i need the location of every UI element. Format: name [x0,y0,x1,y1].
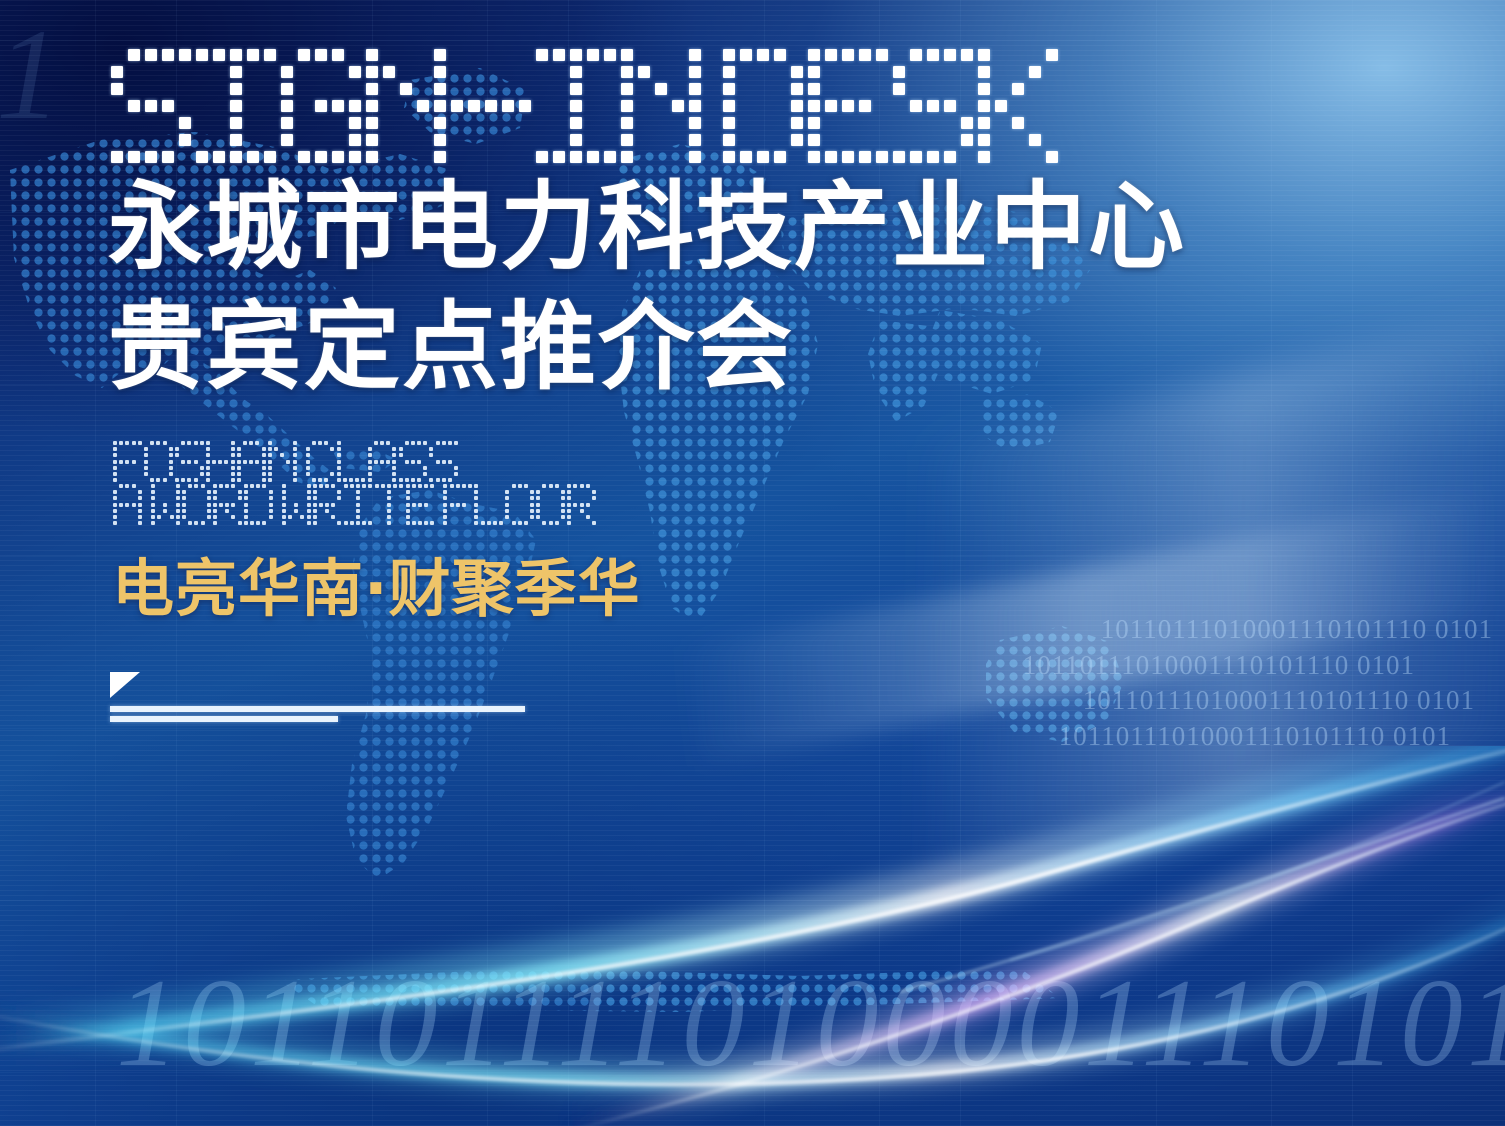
led-dot [312,447,316,451]
led-dot [910,151,922,163]
led-dot [499,503,503,507]
led-dot [978,117,990,129]
led-dot [170,496,174,500]
led-dot [368,441,372,445]
led-dot [893,66,905,78]
led-dot [200,441,204,445]
led-dot [910,49,922,61]
led-dot [179,151,191,163]
led-dot [151,521,155,525]
led-dot [256,496,260,500]
led-dot [468,83,480,95]
led-glyph [448,46,533,165]
led-dot [791,151,803,163]
led-dot [201,484,205,488]
led-dot [549,515,553,519]
led-dot [113,441,117,445]
led-dot [213,100,225,112]
led-dot [580,521,584,525]
led-dot [181,453,185,457]
led-dot [274,453,278,457]
led-dot [442,460,446,464]
led-dot [262,460,266,464]
led-dot [288,496,292,500]
led-dot [300,484,304,488]
led-dot [344,484,348,488]
led-dot [448,460,452,464]
led-dot [150,441,154,445]
led-dot [343,466,347,470]
led-dot [111,117,123,129]
led-dot [740,134,752,146]
led-dot [182,509,186,513]
led-dot [944,49,956,61]
led-dot [337,509,341,513]
led-dot [961,117,973,129]
led-dot [231,453,235,457]
led-dot [487,490,491,494]
led-dot [456,484,460,488]
led-dot [144,472,148,476]
led-dot [176,490,180,494]
led-dot [281,134,293,146]
led-dot [587,83,599,95]
decorative-rule-short [110,716,338,722]
led-dot [604,117,616,129]
led-glyph [336,440,367,483]
led-dot [231,503,235,507]
led-dot [381,484,385,488]
led-dot [224,447,228,451]
led-dot [264,117,276,129]
led-dot [825,151,837,163]
led-glyph [174,440,205,483]
led-dot [162,134,174,146]
led-dot [337,496,341,500]
led-dot [344,521,348,525]
led-dot [859,117,871,129]
led-dot [512,509,516,513]
led-dot [468,490,472,494]
led-dot [456,490,460,494]
led-dot [978,49,990,61]
led-dot [451,66,463,78]
led-dot [355,447,359,451]
led-dot [405,460,409,464]
led-dot [502,117,514,129]
led-dot [318,472,322,476]
led-dot [176,509,180,513]
led-dot [247,83,259,95]
led-dot [113,478,117,482]
led-dot [231,484,235,488]
led-dot [368,472,372,476]
led-dot [424,496,428,500]
led-dot [349,453,353,457]
led-dot [349,117,361,129]
led-dot [418,484,422,488]
led-dot [150,478,154,482]
led-dot [524,503,528,507]
led-dot [119,466,123,470]
led-dot [282,509,286,513]
led-dot [125,472,129,476]
led-dot [502,83,514,95]
led-dot [448,453,452,457]
led-dot [573,509,577,513]
led-dot [330,460,334,464]
led-dot [493,515,497,519]
led-dot [417,466,421,470]
led-dot [518,503,522,507]
led-dot [315,100,327,112]
led-dot [418,490,422,494]
led-dot [387,484,391,488]
led-dot [269,484,273,488]
led-dot [237,466,241,470]
led-dot [294,490,298,494]
led-glyph [805,46,890,165]
led-dot [519,83,531,95]
led-dot [368,490,372,494]
led-dot [162,83,174,95]
led-dot [361,466,365,470]
led-dot [313,509,317,513]
led-dot [300,490,304,494]
led-dot [138,484,142,488]
led-dot [169,478,173,482]
led-glyph [243,483,274,526]
led-dot [151,496,155,500]
led-dot [995,117,1007,129]
led-dot [456,496,460,500]
led-dot [876,49,888,61]
led-dot [519,134,531,146]
led-dot [337,460,341,464]
led-dot [119,515,123,519]
led-dot [542,503,546,507]
led-dot [774,100,786,112]
led-dot [406,484,410,488]
led-dot [555,521,559,525]
led-dot [113,447,117,451]
led-dot [621,66,633,78]
led-dot [399,441,403,445]
led-dot [454,478,458,482]
led-dot [366,83,378,95]
led-dot [502,66,514,78]
led-dot [313,503,317,507]
led-dot [443,515,447,519]
led-dot [132,441,136,445]
led-dot [944,66,956,78]
led-dot [274,478,278,482]
english-subtitle-line-1 [112,440,459,483]
led-dot [306,478,310,482]
led-dot [194,478,198,482]
led-dot [399,503,403,507]
led-dot [757,117,769,129]
led-dot [519,49,531,61]
led-dot [282,521,286,525]
led-dot [368,515,372,519]
led-dot [774,117,786,129]
led-dot [307,484,311,488]
led-dot [423,472,427,476]
led-dot [268,472,272,476]
led-dot [434,117,446,129]
gold-tagline: 电亮华南·财聚季华 [112,538,641,628]
led-dot [119,447,123,451]
led-dot [553,100,565,112]
led-dot [757,151,769,163]
led-dot [243,460,247,464]
led-dot [462,515,466,519]
led-dot [424,521,428,525]
led-dot [518,484,522,488]
led-dot [386,472,390,476]
led-dot [481,496,485,500]
led-dot [231,441,235,445]
led-dot [324,466,328,470]
led-dot [842,66,854,78]
led-dot [604,83,616,95]
led-dot [243,453,247,457]
led-dot [561,484,565,488]
led-dot [448,472,452,476]
led-glyph [281,483,312,526]
led-dot [187,441,191,445]
led-dot [294,496,298,500]
led-dot [324,478,328,482]
led-dot [387,503,391,507]
led-dot [132,496,136,500]
led-dot [791,83,803,95]
led-dot [262,521,266,525]
led-dot [411,441,415,445]
led-dot [188,521,192,525]
led-dot [553,83,565,95]
led-dot [499,496,503,500]
led-dot [621,49,633,61]
led-dot [268,453,272,457]
led-dot [893,49,905,61]
led-dot [324,447,328,451]
led-dot [1012,151,1024,163]
led-dot [280,447,284,451]
led-dot [264,66,276,78]
led-dot [162,117,174,129]
led-dot [740,49,752,61]
led-dot [876,117,888,129]
led-dot [910,117,922,129]
led-dot [436,441,440,445]
led-dot [145,83,157,95]
led-dot [282,484,286,488]
binary-text-block: 10110111010001110101110 0101 10110111010… [933,612,1493,755]
led-glyph [150,483,181,526]
led-dot [570,117,582,129]
triangle-flag-icon [110,672,140,698]
led-dot [128,83,140,95]
led-dot [443,490,447,494]
led-dot [313,484,317,488]
led-dot [238,521,242,525]
led-dot [586,515,590,519]
led-dot [448,466,452,470]
led-dot [454,441,458,445]
led-dot [286,453,290,457]
led-dot [530,496,534,500]
led-dot [592,490,596,494]
led-dot [1012,66,1024,78]
led-dot [487,521,491,525]
led-dot [286,441,290,445]
led-dot [436,453,440,457]
led-dot [423,453,427,457]
led-dot [337,472,341,476]
led-dot [502,151,514,163]
led-dot [570,100,582,112]
led-dot [567,509,571,513]
led-dot [474,521,478,525]
led-dot [436,472,440,476]
led-dot [138,441,142,445]
led-dot [119,460,123,464]
led-dot [249,478,253,482]
led-dot [331,484,335,488]
led-dot [156,472,160,476]
led-dot [337,453,341,457]
led-dot [231,515,235,519]
led-dot [876,66,888,78]
led-dot [169,447,173,451]
led-dot [298,134,310,146]
led-dot [132,460,136,464]
led-dot [213,515,217,519]
led-dot [264,83,276,95]
led-dot [132,466,136,470]
led-dot [350,490,354,494]
led-dot [450,515,454,519]
led-dot [262,453,266,457]
led-dot [318,478,322,482]
led-dot [375,521,379,525]
led-dot [995,66,1007,78]
led-dot [418,509,422,513]
led-dot [319,503,323,507]
led-dot [113,484,117,488]
led-dot [181,447,185,451]
led-dot [417,447,421,451]
led-dot [138,453,142,457]
led-glyph [112,483,143,526]
led-dot [213,134,225,146]
led-dot [294,503,298,507]
led-dot [231,490,235,494]
led-dot [125,453,129,457]
led-dot [201,503,205,507]
led-dot [349,83,361,95]
led-dot [255,453,259,457]
led-dot [825,66,837,78]
led-dot [1046,100,1058,112]
led-dot [318,453,322,457]
led-dot [157,496,161,500]
led-dot [655,49,667,61]
led-dot [381,490,385,494]
led-dot [306,472,310,476]
led-dot [194,503,198,507]
led-dot [300,509,304,513]
led-dot [570,49,582,61]
led-dot [349,49,361,61]
led-dot [247,134,259,146]
led-dot [570,134,582,146]
led-dot [825,100,837,112]
led-dot [774,151,786,163]
led-dot [555,509,559,513]
led-dot [113,509,117,513]
led-dot [194,490,198,494]
led-dot [207,490,211,494]
led-dot [169,441,173,445]
led-dot [111,134,123,146]
led-dot [368,466,372,470]
led-glyph [473,483,504,526]
led-glyph [442,483,473,526]
led-dot [225,496,229,500]
led-dot [119,484,123,488]
led-dot [524,490,528,494]
led-dot [188,503,192,507]
led-dot [361,478,365,482]
led-dot [294,484,298,488]
led-dot [244,521,248,525]
led-dot [255,466,259,470]
led-dot [163,441,167,445]
led-dot [119,521,123,525]
led-dot [288,515,292,519]
led-dot [450,490,454,494]
led-dot [282,496,286,500]
led-dot [113,466,117,470]
led-dot [366,100,378,112]
led-dot [1029,100,1041,112]
led-dot [300,515,304,519]
led-dot [324,460,328,464]
led-dot [151,509,155,513]
led-dot [312,453,316,457]
led-dot [1012,117,1024,129]
led-dot [230,134,242,146]
led-dot [280,441,284,445]
led-dot [995,151,1007,163]
led-dot [553,49,565,61]
led-dot [162,151,174,163]
led-dot [207,515,211,519]
led-dot [443,503,447,507]
led-dot [144,466,148,470]
led-dot [621,134,633,146]
led-dot [170,515,174,519]
led-dot [604,134,616,146]
led-dot [536,515,540,519]
led-dot [524,496,528,500]
led-dot [1046,49,1058,61]
led-dot [150,472,154,476]
led-dot [549,503,553,507]
